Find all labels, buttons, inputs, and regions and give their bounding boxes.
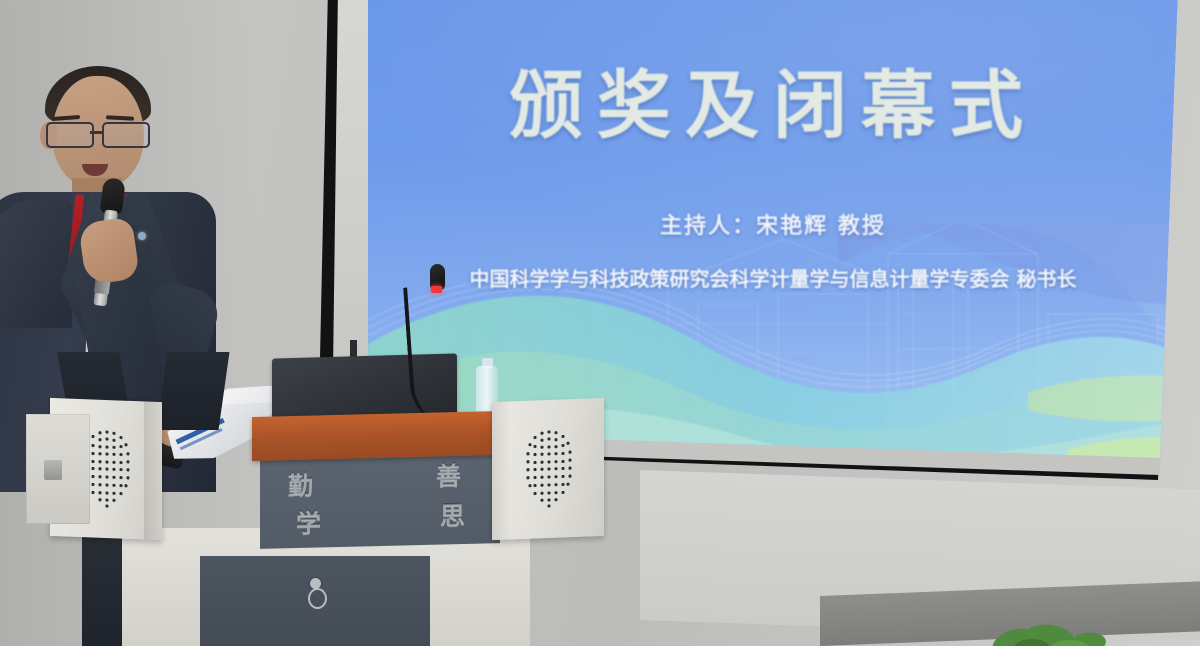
glasses-icon (44, 122, 150, 144)
lectern-speaker-panel-right (492, 398, 604, 540)
engraved-char-4: 思 (440, 496, 465, 533)
glasses-lens-left (46, 122, 94, 148)
lapel-pin-icon (138, 232, 146, 240)
panel-edge (144, 401, 162, 540)
cabinet-lock-ring-icon (308, 588, 327, 609)
lectern-structure (82, 528, 122, 646)
drawer-handle[interactable] (44, 460, 62, 480)
lectern-structure (157, 352, 230, 430)
glasses-bridge (90, 131, 104, 134)
conference-photo-scene: SCIENTOMETRICS 颁奖及闭幕式 主持人：宋艳辉 教授 中国科学学与科… (0, 0, 1200, 646)
lectern: 勤 学 善 思 (20, 352, 640, 646)
engraved-char-2: 学 (296, 503, 321, 540)
lectern-wooden-top (252, 411, 500, 461)
slide-title: 颁奖及闭幕式 (368, 46, 1178, 153)
lectern-front-panel: 勤 学 善 思 (260, 449, 500, 549)
slide-organization-line: 中国科学学与科技政策研究会科学计量学与信息计量学专委会 秘书长 (368, 263, 1178, 292)
gooseneck-stem (403, 285, 457, 430)
gooseneck-microphone[interactable] (408, 264, 454, 424)
suit-shoulder-left (0, 198, 72, 328)
engraved-char-3: 善 (436, 456, 461, 493)
engraved-char-1: 勤 (288, 466, 313, 503)
panel-edge (492, 401, 510, 540)
potted-plant (980, 612, 1140, 646)
mic-led-indicator (431, 286, 442, 293)
slide-host-line: 主持人：宋艳辉 教授 (368, 208, 1178, 240)
glasses-lens-right (102, 122, 150, 148)
speaker-grille (518, 425, 580, 513)
